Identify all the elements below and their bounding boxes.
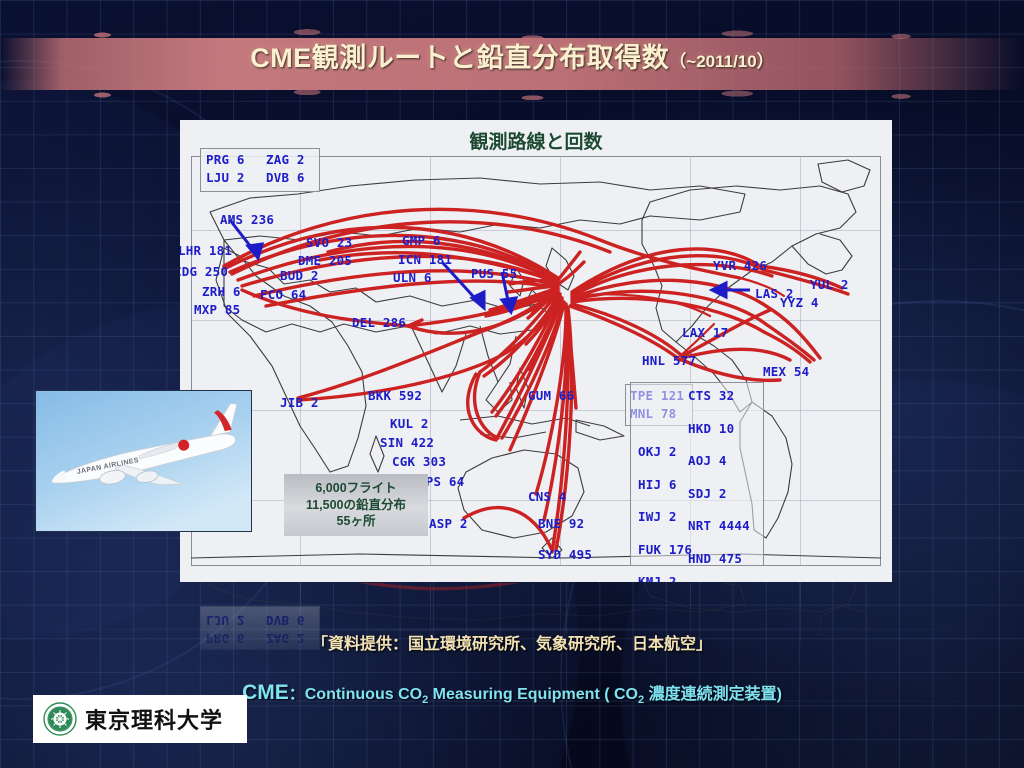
label-JIB: JIB 2 <box>280 395 319 410</box>
university-logo: 東京理科大学 <box>33 695 247 743</box>
label-BUD: BUD 2 <box>280 268 319 283</box>
label-AMS: AMS 236 <box>220 583 274 586</box>
stat-profiles: 11,500の鉛直分布 <box>306 497 406 514</box>
data-credit: 「資料提供：国立環境研究所、気象研究所、日本航空」 <box>0 630 1024 654</box>
label-ZRH: ZRH 6 <box>202 284 241 299</box>
label-BKK: BKK 592 <box>368 388 422 403</box>
map-canvas: 観測路線と回数 <box>180 120 892 582</box>
label-HNL: HNL 577 <box>642 353 696 368</box>
stat-sites: 55ヶ所 <box>337 513 376 530</box>
label-DVB: DVB 6 <box>266 170 305 185</box>
label-AMS: AMS 236 <box>220 212 274 227</box>
label-GUM: GUM 66 <box>528 388 574 403</box>
label-SIN: SIN 422 <box>380 435 434 450</box>
label-AOJ: AOJ 4 <box>688 453 750 468</box>
label-MEX: MEX 54 <box>763 364 809 379</box>
label-BNE: BNE 92 <box>538 516 584 531</box>
label-LAS: LAS 2 <box>755 286 794 301</box>
label-SVO: SVO 23 <box>306 235 352 250</box>
label-CDG: CDG 250 <box>180 264 228 279</box>
japan-domestic-right-column: CTS 32HKD 10AOJ 4SDJ 2NRT 4444HND 475NGO… <box>688 388 750 538</box>
label-ULN: ULN 6 <box>393 270 432 285</box>
label-SDJ: SDJ 2 <box>688 486 750 501</box>
label-YUL: YUL 2 <box>810 277 849 292</box>
observation-map-panel[interactable]: 観測路線と回数 <box>180 120 892 582</box>
label-HKD: HKD 10 <box>688 421 750 436</box>
page-title-subtitle: （~2011/10） <box>669 52 773 71</box>
label-CTS: CTS 32 <box>688 388 750 403</box>
cme-def-pre: ：Continuous CO <box>289 686 422 703</box>
japan-domestic-left-column: OKJ 2HIJ 6IWJ 2FUK 176KMJ 2KOJ 2OKA 16 <box>638 444 692 549</box>
page-title-main: CME観測ルートと鉛直分布取得数 <box>250 43 669 73</box>
label-FCO: FCO 64 <box>260 287 306 302</box>
label-PRG: PRG 6 <box>206 152 245 167</box>
label-LJU: LJU 2 <box>206 170 245 185</box>
label-YVR: YVR 426 <box>713 258 767 273</box>
label-ZAG: ZAG 2 <box>266 152 305 167</box>
label-CGK: CGK 303 <box>392 454 446 469</box>
university-name: 東京理科大学 <box>85 703 223 735</box>
jal-aircraft-illustration: JAPAN AIRLINES <box>36 391 251 531</box>
label-HIJ: HIJ 6 <box>638 477 692 492</box>
label-IWJ: IWJ 2 <box>638 509 692 524</box>
label-DVB: DVB 6 <box>266 613 305 628</box>
label-LJU: LJU 2 <box>206 613 245 628</box>
page-title: CME観測ルートと鉛直分布取得数（~2011/10） <box>0 36 1024 75</box>
stat-flights: 6,000フライト <box>315 480 396 497</box>
label-PUS: PUS 55 <box>471 266 517 281</box>
cme-def-post: 濃度連続測定装置) <box>644 686 782 703</box>
cme-def-mid: Measuring Equipment ( CO <box>428 686 638 703</box>
label-OKJ: OKJ 2 <box>638 444 692 459</box>
statistics-box: 6,000フライト 11,500の鉛直分布 55ヶ所 <box>284 474 428 536</box>
university-seal-icon <box>43 702 77 736</box>
label-GMP: GMP 6 <box>402 233 441 248</box>
label-KMJ: KMJ 2 <box>638 574 692 582</box>
label-MXP: MXP 85 <box>194 302 240 317</box>
label-CNS: CNS 4 <box>528 489 567 504</box>
label-HND: HND 475 <box>688 551 750 566</box>
label-LAX: LAX 17 <box>682 325 728 340</box>
label-NRT: NRT 4444 <box>688 518 750 533</box>
cme-abbreviation: CME <box>242 681 289 704</box>
label-LHR: LHR 181 <box>180 243 232 258</box>
label-ICN: ICN 181 <box>398 252 452 267</box>
label-DME: DME 205 <box>298 253 352 268</box>
label-DEL: DEL 286 <box>352 315 406 330</box>
label-ASP: ASP 2 <box>429 516 468 531</box>
label-SYD: SYD 495 <box>538 547 592 562</box>
label-FUK: FUK 176 <box>638 542 692 557</box>
airplane-photo: JAPAN AIRLINES <box>35 390 252 532</box>
label-KUL: KUL 2 <box>390 416 429 431</box>
